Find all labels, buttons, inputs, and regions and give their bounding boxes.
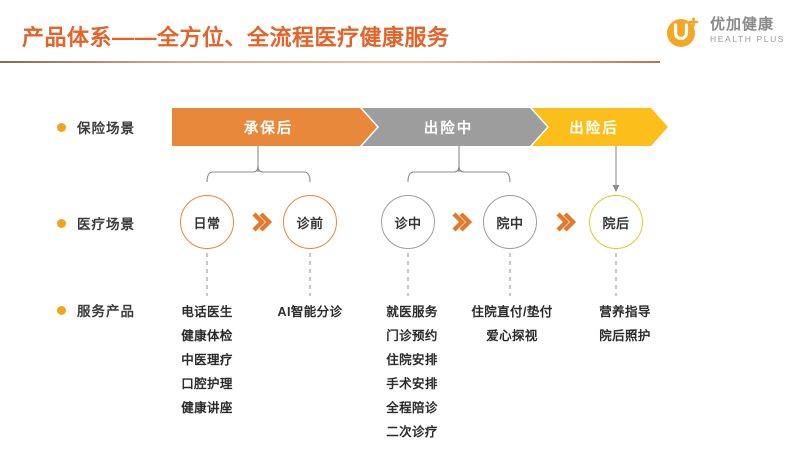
chevron-right-icon [556, 211, 576, 233]
chevron-right-icon [452, 211, 472, 233]
product-item[interactable]: 健康体检 [137, 324, 277, 348]
journey-node-3[interactable]: 诊中 [381, 195, 435, 249]
journey-node-5[interactable]: 院后 [589, 195, 643, 249]
brand-logo: 优加健康 HEALTH PLUS [666, 12, 790, 56]
journey-node-label: 院中 [496, 213, 523, 232]
journey-node-2[interactable]: 诊前 [283, 195, 337, 249]
row-label-medical-scenario: 医疗场景 [57, 213, 135, 233]
product-item[interactable]: 全程陪诊 [342, 396, 482, 420]
logo-wordmark: 优加健康 HEALTH PLUS [710, 16, 785, 45]
row-label-text: 保险场景 [77, 117, 135, 137]
row-label-text: 服务产品 [77, 300, 135, 320]
logo-name-en: HEALTH PLUS [710, 34, 785, 45]
stage-chevron-2[interactable]: 出险中 [362, 108, 547, 146]
journey-node-label: 日常 [193, 213, 220, 232]
chevron-right-icon [252, 211, 272, 233]
bullet-icon [57, 306, 66, 315]
arrow-down-icon [612, 185, 619, 192]
page-header: 产品体系——全方位、全流程医疗健康服务 优加健康 HEALTH PLUS [0, 0, 800, 64]
product-item[interactable]: 营养指导 [555, 300, 695, 324]
product-column-5: 营养指导院后照护 [555, 300, 695, 348]
connector-line [408, 166, 510, 182]
journey-node-label: 诊中 [394, 213, 421, 232]
stage-chevron-label: 出险中 [424, 117, 474, 138]
row-label-text: 医疗场景 [77, 213, 135, 233]
connector-line [207, 166, 310, 182]
product-item[interactable]: 二次诊疗 [342, 420, 482, 444]
journey-node-label: 院后 [602, 213, 629, 232]
row-label-insurance-scenario: 保险场景 [57, 117, 135, 137]
product-item[interactable]: 院后照护 [555, 324, 695, 348]
bullet-icon [57, 219, 66, 228]
journey-node-label: 诊前 [296, 213, 323, 232]
title-divider [0, 61, 660, 63]
product-item[interactable]: 中医理疗 [137, 348, 277, 372]
row-label-service-products: 服务产品 [57, 300, 135, 320]
journey-node-4[interactable]: 院中 [483, 195, 537, 249]
product-item[interactable]: 手术安排 [342, 372, 482, 396]
stage-chevron-label: 出险后 [569, 117, 619, 138]
product-item[interactable]: 健康讲座 [137, 396, 277, 420]
bullet-icon [57, 123, 66, 132]
product-item[interactable]: 住院安排 [342, 348, 482, 372]
journey-node-1[interactable]: 日常 [180, 195, 234, 249]
stage-chevron-label: 承保后 [244, 117, 294, 138]
u-plus-logo-icon [666, 14, 700, 48]
stage-chevron-3[interactable]: 出险后 [532, 108, 668, 146]
logo-name-cn: 优加健康 [710, 16, 785, 33]
page-title: 产品体系——全方位、全流程医疗健康服务 [22, 20, 450, 52]
product-item[interactable]: 口腔护理 [137, 372, 277, 396]
stage-chevron-1[interactable]: 承保后 [172, 108, 377, 146]
